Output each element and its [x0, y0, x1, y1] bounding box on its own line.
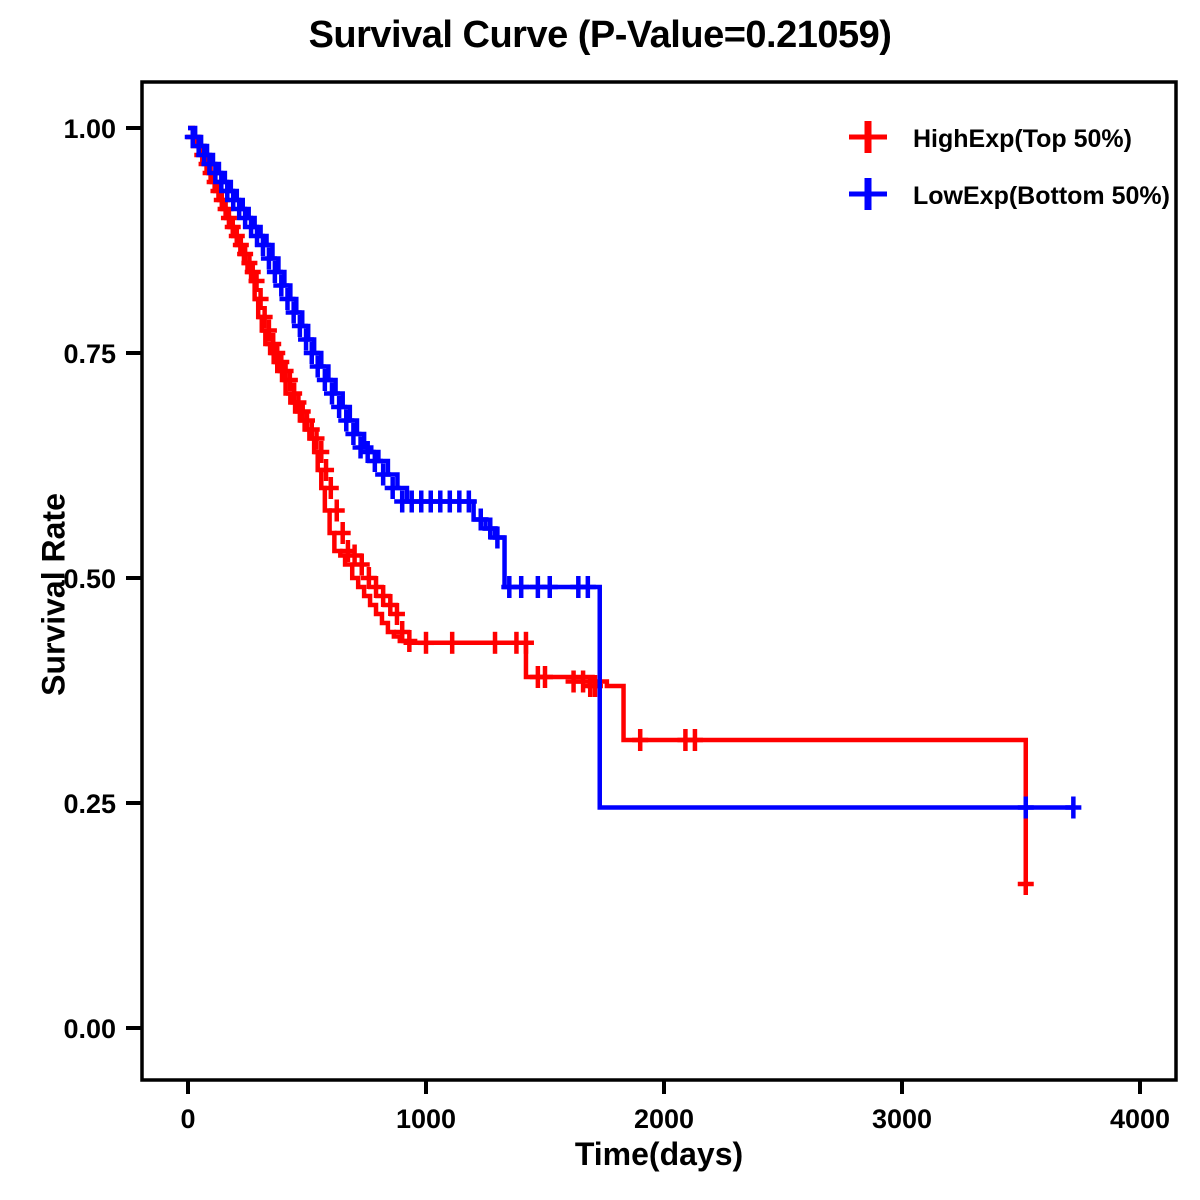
y-tick-label: 0.25 [63, 789, 116, 819]
y-tick-label: 0.50 [63, 564, 116, 594]
plus-marker-icon [849, 178, 887, 210]
plot-canvas: 01000200030004000 0.000.250.500.751.00 H… [0, 0, 1200, 1200]
x-tick-label: 2000 [634, 1104, 694, 1134]
y-axis-ticks: 0.000.250.500.751.00 [63, 114, 142, 1044]
series-layer [185, 126, 1082, 895]
legend-label: HighExp(Top 50%) [913, 125, 1132, 153]
legend-label: LowExp(Bottom 50%) [913, 182, 1170, 210]
x-axis-ticks: 01000200030004000 [180, 1080, 1170, 1134]
step-line [188, 128, 1026, 884]
x-tick-label: 3000 [872, 1104, 932, 1134]
plus-marker-icon [849, 121, 887, 153]
series-high-exp [186, 126, 1034, 895]
x-tick-label: 1000 [396, 1104, 456, 1134]
y-tick-label: 1.00 [63, 114, 116, 144]
legend-item-high-exp[interactable]: HighExp(Top 50%) [849, 121, 1132, 153]
legend-item-low-exp[interactable]: LowExp(Bottom 50%) [849, 178, 1170, 210]
survival-curve-figure: Survival Curve (P-Value=0.21059) Surviva… [0, 0, 1200, 1200]
x-tick-label: 0 [180, 1104, 195, 1134]
axis-frame [142, 82, 1176, 1080]
censor-marks [186, 126, 1034, 895]
chart-legend: HighExp(Top 50%)LowExp(Bottom 50%) [849, 121, 1170, 210]
y-tick-label: 0.00 [63, 1014, 116, 1044]
y-tick-label: 0.75 [63, 339, 116, 369]
x-tick-label: 4000 [1110, 1104, 1170, 1134]
